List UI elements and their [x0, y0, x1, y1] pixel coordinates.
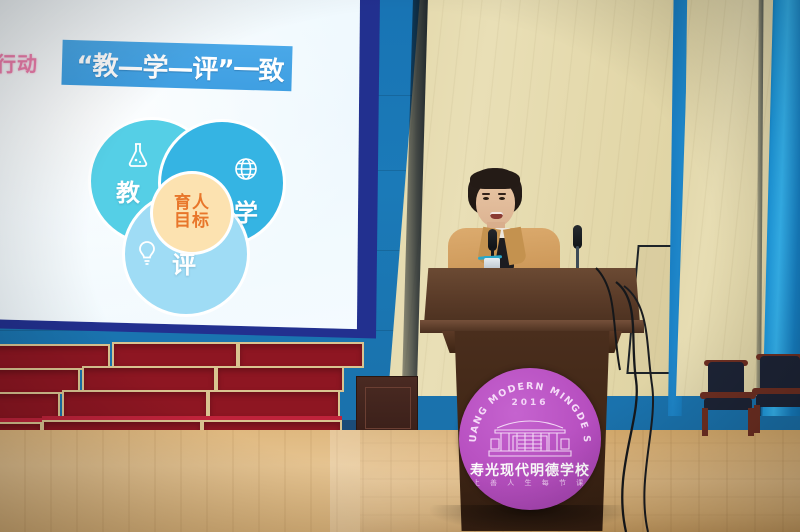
projection-screen: 改进行动 监控 “教—学—评”一致 育人 目标 教 学 评	[0, 0, 360, 336]
chair-leg	[754, 405, 760, 433]
speaker-fringe	[470, 169, 520, 189]
podium-top	[424, 268, 640, 324]
speaker-mouth	[490, 212, 503, 219]
lightbulb-icon	[136, 240, 158, 270]
diagram-label-learn: 学	[234, 193, 258, 228]
stage-floor-left	[0, 430, 360, 532]
diagram-center-line2: 目标	[174, 213, 210, 231]
riser-step	[62, 390, 208, 418]
emblem-school-name: 寿光现代明德学校	[459, 460, 601, 480]
stage-chair[interactable]	[700, 352, 756, 432]
emblem-year: 2016	[459, 398, 601, 408]
speaker-eye	[483, 197, 489, 200]
globe-icon	[234, 157, 258, 185]
riser-step	[216, 366, 344, 392]
auditorium-scene: 改进行动 监控 “教—学—评”一致 育人 目标 教 学 评	[0, 0, 800, 532]
diagram-label-eval: 评	[172, 245, 196, 280]
chair-back	[708, 362, 744, 396]
riser-step	[208, 390, 340, 418]
flask-icon	[126, 142, 150, 172]
chair-seat	[756, 394, 800, 407]
chair-seat	[704, 398, 752, 410]
speaker-eyebrow	[498, 193, 506, 195]
stage-cabinet	[356, 376, 418, 438]
chair-back	[760, 356, 800, 392]
emblem-building-icon	[487, 412, 573, 458]
slide-left-text-top: 改进行动	[0, 48, 38, 77]
riser-step	[238, 342, 364, 368]
speaker-person	[440, 168, 570, 278]
emblem-motto: 上 善 人 生 每 节 课	[459, 478, 601, 488]
diagram-center-circle: 育人 目标	[150, 171, 234, 255]
slide-title: “教—学—评”一致	[68, 44, 293, 88]
riser-step	[112, 342, 238, 368]
speaker-eye	[499, 197, 505, 200]
diagram-label-teach: 教	[116, 173, 140, 208]
speaker-eyebrow	[482, 193, 490, 195]
school-emblem: SHOUGUANG MODERN MINGDE SCHOOL 2016 寿光现代…	[459, 368, 601, 510]
riser-step	[82, 366, 216, 392]
slide-diagram: 育人 目标 教 学 评	[88, 115, 288, 315]
stage-chair[interactable]	[752, 348, 800, 432]
chair-leg	[702, 408, 708, 436]
